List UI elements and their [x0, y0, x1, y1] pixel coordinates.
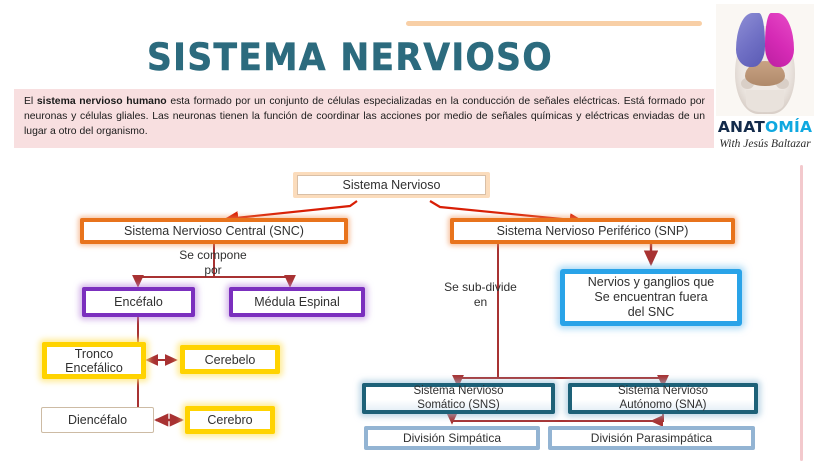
node-snc[interactable]: Sistema Nervioso Central (SNC)	[80, 218, 348, 244]
node-sna[interactable]: Sistema Nervioso Autónomo (SNA)	[568, 383, 758, 414]
node-division-simpatica-label: División Simpática	[368, 430, 536, 446]
label-se-subdivide-line2: en	[423, 295, 538, 310]
node-sna-line1: Sistema Nervioso	[618, 385, 708, 399]
node-nervios-line1: Nervios y ganglios que	[588, 275, 714, 290]
node-nervios-line3: del SNC	[588, 305, 714, 320]
label-se-compone: Se compone por	[128, 248, 298, 278]
node-division-simpatica[interactable]: División Simpática	[364, 426, 540, 450]
node-division-parasimpatica-label: División Parasimpática	[552, 430, 751, 446]
node-sistema-nervioso-label: Sistema Nervioso	[297, 175, 486, 195]
label-se-subdivide: Se sub-divide en	[423, 280, 538, 310]
node-nervios-line2: Se encuentran fuera	[588, 290, 714, 305]
node-cerebelo-label: Cerebelo	[185, 350, 275, 369]
node-sns-line1: Sistema Nervioso	[413, 385, 503, 399]
node-tronco-encefalico[interactable]: Tronco Encefálico	[42, 342, 146, 379]
node-medula-espinal-label: Médula Espinal	[233, 291, 361, 313]
node-sns[interactable]: Sistema Nervioso Somático (SNS)	[362, 383, 555, 414]
node-sna-label: Sistema Nervioso Autónomo (SNA)	[572, 387, 754, 410]
node-sistema-nervioso[interactable]: Sistema Nervioso	[293, 172, 490, 198]
node-sna-line2: Autónomo (SNA)	[618, 399, 708, 413]
node-diencefalo[interactable]: Diencéfalo	[41, 407, 154, 433]
node-tronco-encefalico-label: Tronco Encefálico	[47, 347, 141, 374]
node-division-parasimpatica[interactable]: División Parasimpática	[548, 426, 755, 450]
node-cerebelo[interactable]: Cerebelo	[180, 345, 280, 374]
node-snp-label: Sistema Nervioso Periférico (SNP)	[454, 222, 731, 240]
node-cerebro[interactable]: Cerebro	[185, 406, 275, 434]
label-se-compone-line2: por	[128, 263, 298, 278]
label-se-compone-line1: Se compone	[128, 248, 298, 263]
node-sns-label: Sistema Nervioso Somático (SNS)	[366, 387, 551, 410]
node-snp[interactable]: Sistema Nervioso Periférico (SNP)	[450, 218, 735, 244]
node-sns-line2: Somático (SNS)	[413, 399, 503, 413]
node-medula-espinal[interactable]: Médula Espinal	[229, 287, 365, 317]
node-encefalo-label: Encéfalo	[86, 291, 191, 313]
node-nervios-ganglios-label: Nervios y ganglios que Se encuentran fue…	[565, 274, 737, 321]
node-cerebro-label: Cerebro	[190, 411, 270, 429]
node-encefalo[interactable]: Encéfalo	[82, 287, 195, 317]
node-snc-label: Sistema Nervioso Central (SNC)	[84, 222, 344, 240]
node-diencefalo-label: Diencéfalo	[42, 408, 153, 432]
node-nervios-ganglios[interactable]: Nervios y ganglios que Se encuentran fue…	[560, 269, 742, 326]
label-se-subdivide-line1: Se sub-divide	[423, 280, 538, 295]
